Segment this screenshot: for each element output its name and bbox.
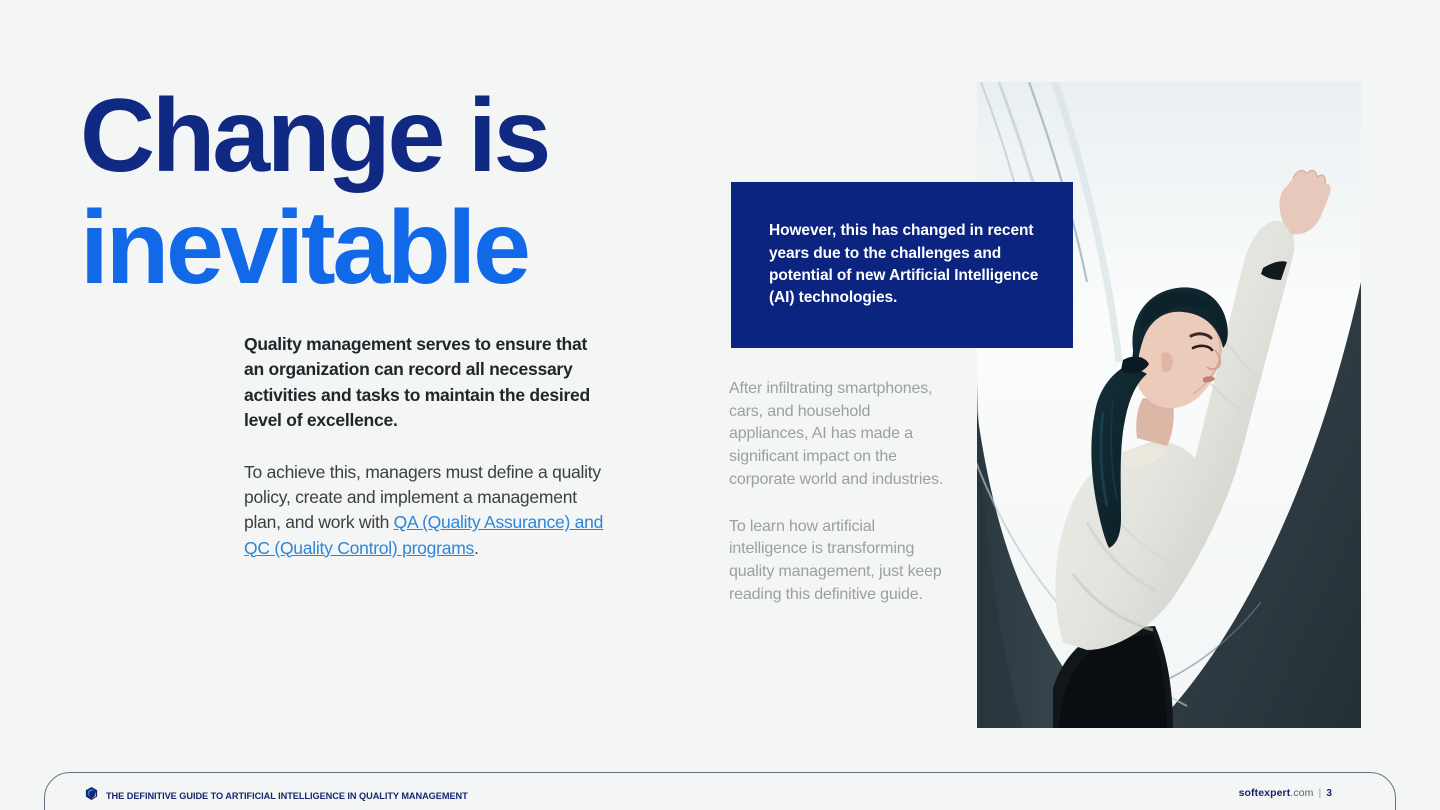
- headline-line-1: Change is: [80, 80, 700, 192]
- left-text-column: Quality management serves to ensure that…: [244, 332, 604, 561]
- footer-separator: |: [1319, 787, 1322, 799]
- page-title: Change is inevitable: [80, 80, 700, 305]
- slide-canvas: Change is inevitable Quality management …: [0, 0, 1440, 810]
- callout-box: However, this has changed in recent year…: [731, 182, 1073, 348]
- footer-brand: softexpert: [1239, 787, 1291, 799]
- hero-photo-illustration: [977, 82, 1361, 728]
- right-paragraph-2: To learn how artificial intelligence is …: [729, 516, 951, 607]
- callout-text: However, this has changed in recent year…: [731, 220, 1073, 309]
- footer-brand-group: THE DEFINITIVE GUIDE TO ARTIFICIAL INTEL…: [84, 786, 468, 806]
- footer-meta: softexpert.com | 3: [1239, 787, 1332, 799]
- footer-tld: .com: [1290, 787, 1313, 799]
- footer-title: THE DEFINITIVE GUIDE TO ARTIFICIAL INTEL…: [106, 791, 468, 801]
- page-number: 3: [1326, 788, 1332, 799]
- hero-photo: [977, 82, 1361, 728]
- right-paragraph-1: After infiltrating smartphones, cars, an…: [729, 378, 951, 492]
- body-paragraph-suffix: .: [474, 538, 479, 558]
- footer-site: softexpert.com: [1239, 787, 1314, 799]
- softexpert-hexagon-logo-icon: [84, 786, 99, 806]
- headline-line-2: inevitable: [80, 192, 700, 304]
- right-text-column: After infiltrating smartphones, cars, an…: [729, 378, 951, 606]
- body-paragraph: To achieve this, managers must define a …: [244, 460, 604, 562]
- lead-paragraph: Quality management serves to ensure that…: [244, 332, 604, 434]
